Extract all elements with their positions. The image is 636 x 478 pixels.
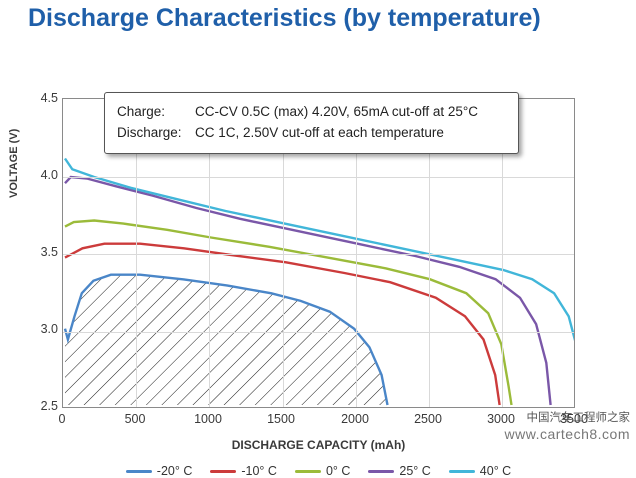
annotation-discharge-value: CC 1C, 2.50V cut-off at each temperature (195, 123, 444, 144)
y-tick-4.5: 4.5 (18, 91, 58, 105)
watermark-line-1: 中国汽车工程师之家 (505, 411, 630, 425)
legend-label--20C: -20° C (157, 464, 193, 478)
legend-label-25C: 25° C (399, 464, 430, 478)
x-tick-500: 500 (105, 412, 165, 426)
gridline-h-3.5 (63, 254, 574, 255)
gridline-h-4.0 (63, 177, 574, 178)
legend-item--10C: -10° C (210, 464, 277, 478)
page-title: Discharge Characteristics (by temperatur… (28, 4, 618, 33)
legend-item-40C: 40° C (449, 464, 511, 478)
legend-swatch--20C (126, 470, 152, 473)
annotation-charge-value: CC-CV 0.5C (max) 4.20V, 65mA cut-off at … (195, 102, 478, 123)
legend-label--10C: -10° C (241, 464, 277, 478)
chart-container: VOLTAGE (V) 4.5 4.0 3.5 3.0 2.5 (0, 44, 636, 404)
x-tick-0: 0 (32, 412, 92, 426)
annotation-box: Charge: CC-CV 0.5C (max) 4.20V, 65mA cut… (104, 92, 519, 154)
gridline-h-3.0 (63, 332, 574, 333)
x-tick-2000: 2000 (325, 412, 385, 426)
legend-item-25C: 25° C (368, 464, 430, 478)
y-tick-3.5: 3.5 (18, 245, 58, 259)
legend-item--20C: -20° C (126, 464, 193, 478)
legend-label-40C: 40° C (480, 464, 511, 478)
x-tick-1000: 1000 (178, 412, 238, 426)
x-axis-label: DISCHARGE CAPACITY (mAh) (62, 438, 575, 452)
y-tick-3.0: 3.0 (18, 322, 58, 336)
x-tick-1500: 1500 (251, 412, 311, 426)
x-tick-2500: 2500 (398, 412, 458, 426)
y-tick-2.5: 2.5 (18, 399, 58, 413)
annotation-charge-key: Charge: (117, 102, 195, 123)
hatched-region (65, 275, 388, 405)
legend-swatch-25C (368, 470, 394, 473)
annotation-row-charge: Charge: CC-CV 0.5C (max) 4.20V, 65mA cut… (117, 102, 508, 123)
watermark-line-2: www.cartech8.com (505, 426, 630, 444)
legend-swatch-0C (295, 470, 321, 473)
legend-label-0C: 0° C (326, 464, 350, 478)
chart-legend: -20° C -10° C 0° C 25° C 40° C (62, 464, 575, 478)
legend-item-0C: 0° C (295, 464, 350, 478)
annotation-discharge-key: Discharge: (117, 123, 195, 144)
y-tick-4.0: 4.0 (18, 168, 58, 182)
legend-swatch-40C (449, 470, 475, 473)
annotation-row-discharge: Discharge: CC 1C, 2.50V cut-off at each … (117, 123, 508, 144)
y-axis-label: VOLTAGE (V) (8, 129, 20, 198)
watermark: 中国汽车工程师之家 www.cartech8.com (505, 411, 630, 443)
legend-swatch--10C (210, 470, 236, 473)
